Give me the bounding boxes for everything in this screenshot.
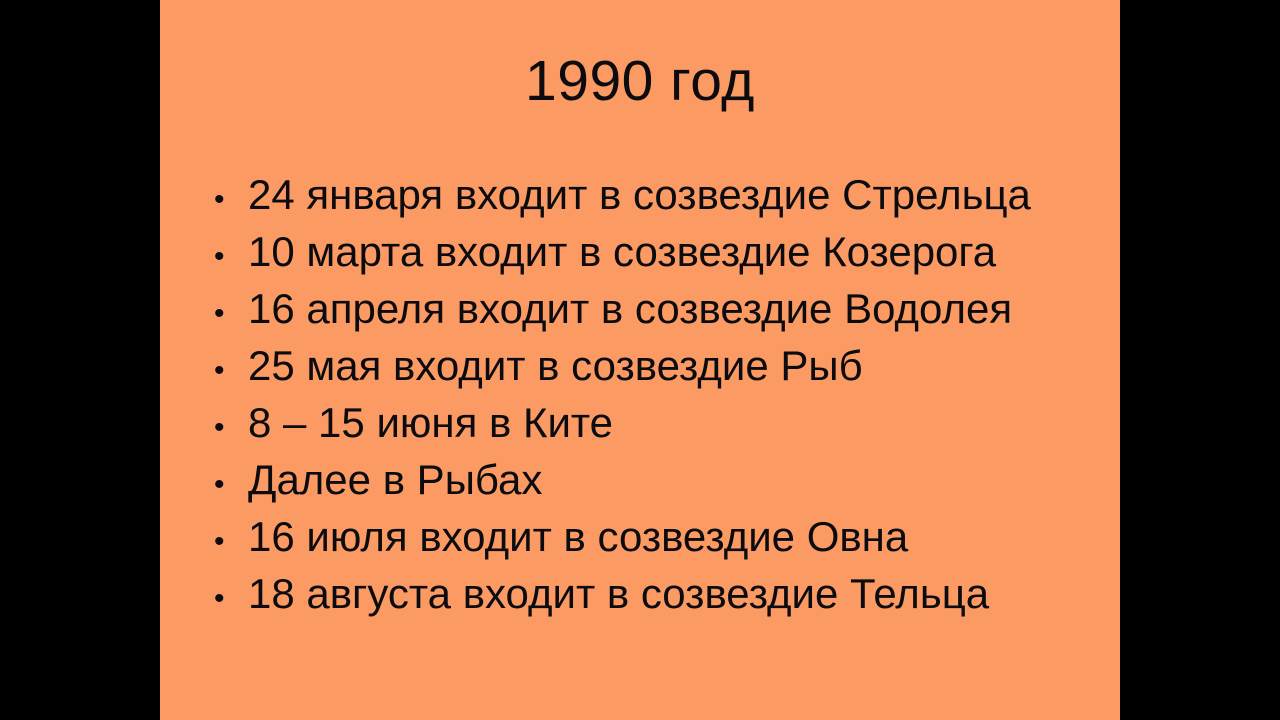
bullet-point-icon: • [214, 234, 248, 279]
letterbox-bar-right [1120, 0, 1280, 720]
list-item: • 16 июля входит в созвездие Овна [214, 514, 1114, 571]
bullet-list: • 24 января входит в созвездие Стрельца … [214, 172, 1114, 628]
list-item: • Далее в Рыбах [214, 457, 1114, 514]
presentation-viewport: 1990 год • 24 января входит в созвездие … [0, 0, 1280, 720]
list-item-label: 8 – 15 июня в Ките [248, 400, 613, 445]
list-item: • 24 января входит в созвездие Стрельца [214, 172, 1114, 229]
bullet-point-icon: • [214, 177, 248, 222]
slide-title: 1990 год [160, 52, 1120, 112]
list-item-label: Далее в Рыбах [248, 457, 542, 502]
slide-canvas: 1990 год • 24 января входит в созвездие … [160, 0, 1120, 720]
letterbox-bar-left [0, 0, 160, 720]
bullet-point-icon: • [214, 519, 248, 564]
list-item: • 10 марта входит в созвездие Козерога [214, 229, 1114, 286]
list-item: • 25 мая входит в созвездие Рыб [214, 343, 1114, 400]
bullet-point-icon: • [214, 405, 248, 450]
list-item-label: 25 мая входит в созвездие Рыб [248, 343, 863, 388]
list-item-label: 24 января входит в созвездие Стрельца [248, 172, 1031, 217]
list-item: • 18 августа входит в созвездие Тельца [214, 571, 1114, 628]
list-item: • 16 апреля входит в созвездие Водолея [214, 286, 1114, 343]
bullet-point-icon: • [214, 291, 248, 336]
list-item: • 8 – 15 июня в Ките [214, 400, 1114, 457]
list-item-label: 18 августа входит в созвездие Тельца [248, 571, 989, 616]
list-item-label: 10 марта входит в созвездие Козерога [248, 229, 996, 274]
list-item-label: 16 апреля входит в созвездие Водолея [248, 286, 1012, 331]
bullet-point-icon: • [214, 462, 248, 507]
list-item-label: 16 июля входит в созвездие Овна [248, 514, 908, 559]
bullet-point-icon: • [214, 348, 248, 393]
bullet-point-icon: • [214, 576, 248, 621]
